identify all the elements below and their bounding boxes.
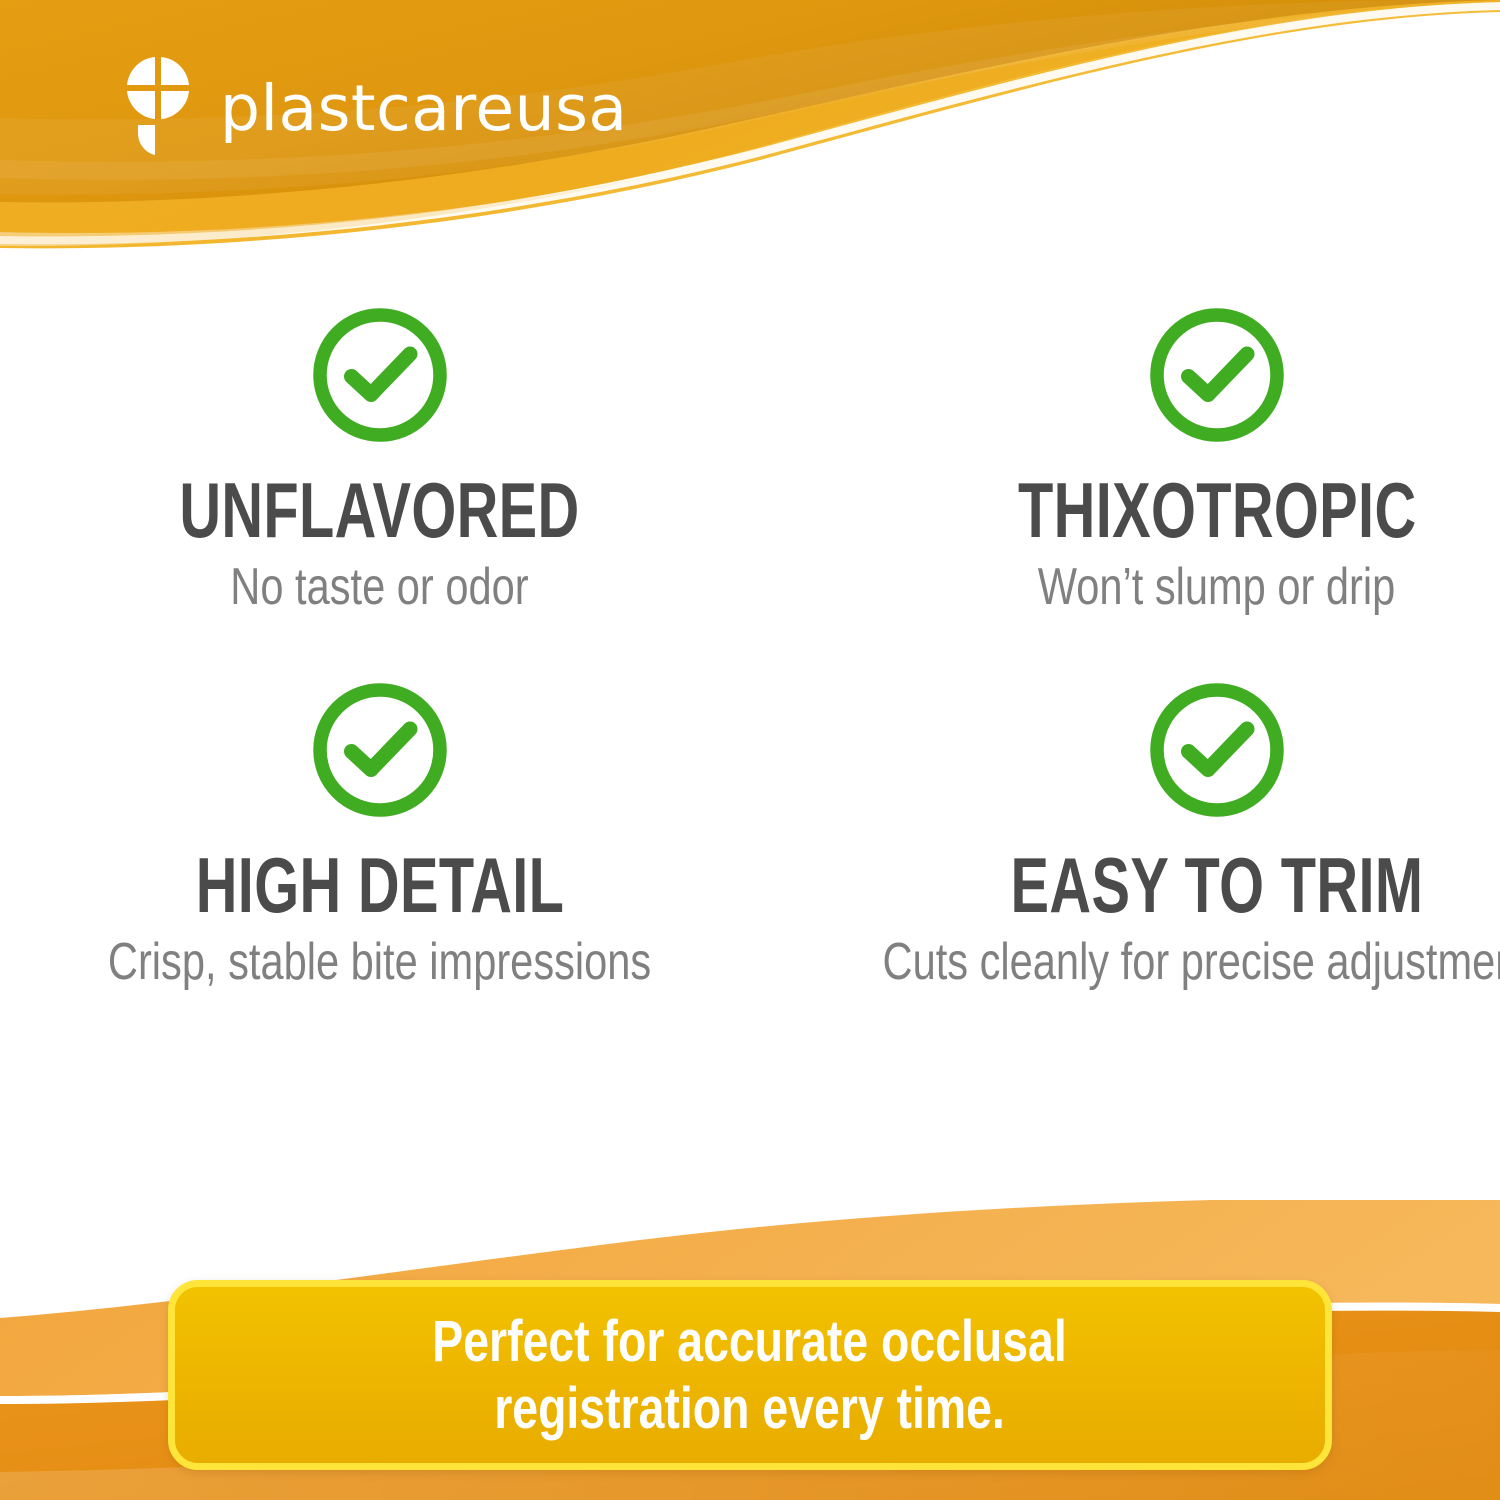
check-circle-icon xyxy=(305,300,455,450)
tagline-text: Perfect for accurate occlusal registrati… xyxy=(433,1308,1067,1443)
header-banner: plastcareusa xyxy=(0,0,1500,270)
feature-title: HIGH DETAIL xyxy=(195,847,564,923)
feature-subtitle: No taste or odor xyxy=(230,558,528,616)
feature-title: THIXOTROPIC xyxy=(1018,472,1417,548)
brand-wordmark: plastcareusa xyxy=(220,77,628,140)
feature-subtitle: Won’t slump or drip xyxy=(1038,558,1396,616)
feature-card-high-detail: HIGH DETAIL Crisp, stable bite impressio… xyxy=(0,675,759,992)
promo-graphic: plastcareusa UNFLAVORED No taste or odor… xyxy=(0,0,1500,1500)
brand-lockup: plastcareusa xyxy=(122,52,628,160)
feature-subtitle: Crisp, stable bite impressions xyxy=(108,933,651,991)
feature-title: UNFLAVORED xyxy=(179,472,579,548)
check-circle-icon xyxy=(305,675,455,825)
feature-title: EASY TO TRIM xyxy=(1010,847,1423,923)
check-circle-icon xyxy=(1142,675,1292,825)
check-circle-icon xyxy=(1142,300,1292,450)
feature-subtitle: Cuts cleanly for precise adjustments xyxy=(883,933,1500,991)
feature-card-unflavored: UNFLAVORED No taste or odor xyxy=(0,300,759,617)
feature-card-easy-to-trim: EASY TO TRIM Cuts cleanly for precise ad… xyxy=(759,675,1500,992)
tagline-banner: Perfect for accurate occlusal registrati… xyxy=(168,1280,1332,1470)
feature-card-thixotropic: THIXOTROPIC Won’t slump or drip xyxy=(759,300,1500,617)
plastcare-cross-logo-icon xyxy=(122,52,194,160)
feature-grid: UNFLAVORED No taste or odor THIXOTROPIC … xyxy=(0,300,1500,991)
